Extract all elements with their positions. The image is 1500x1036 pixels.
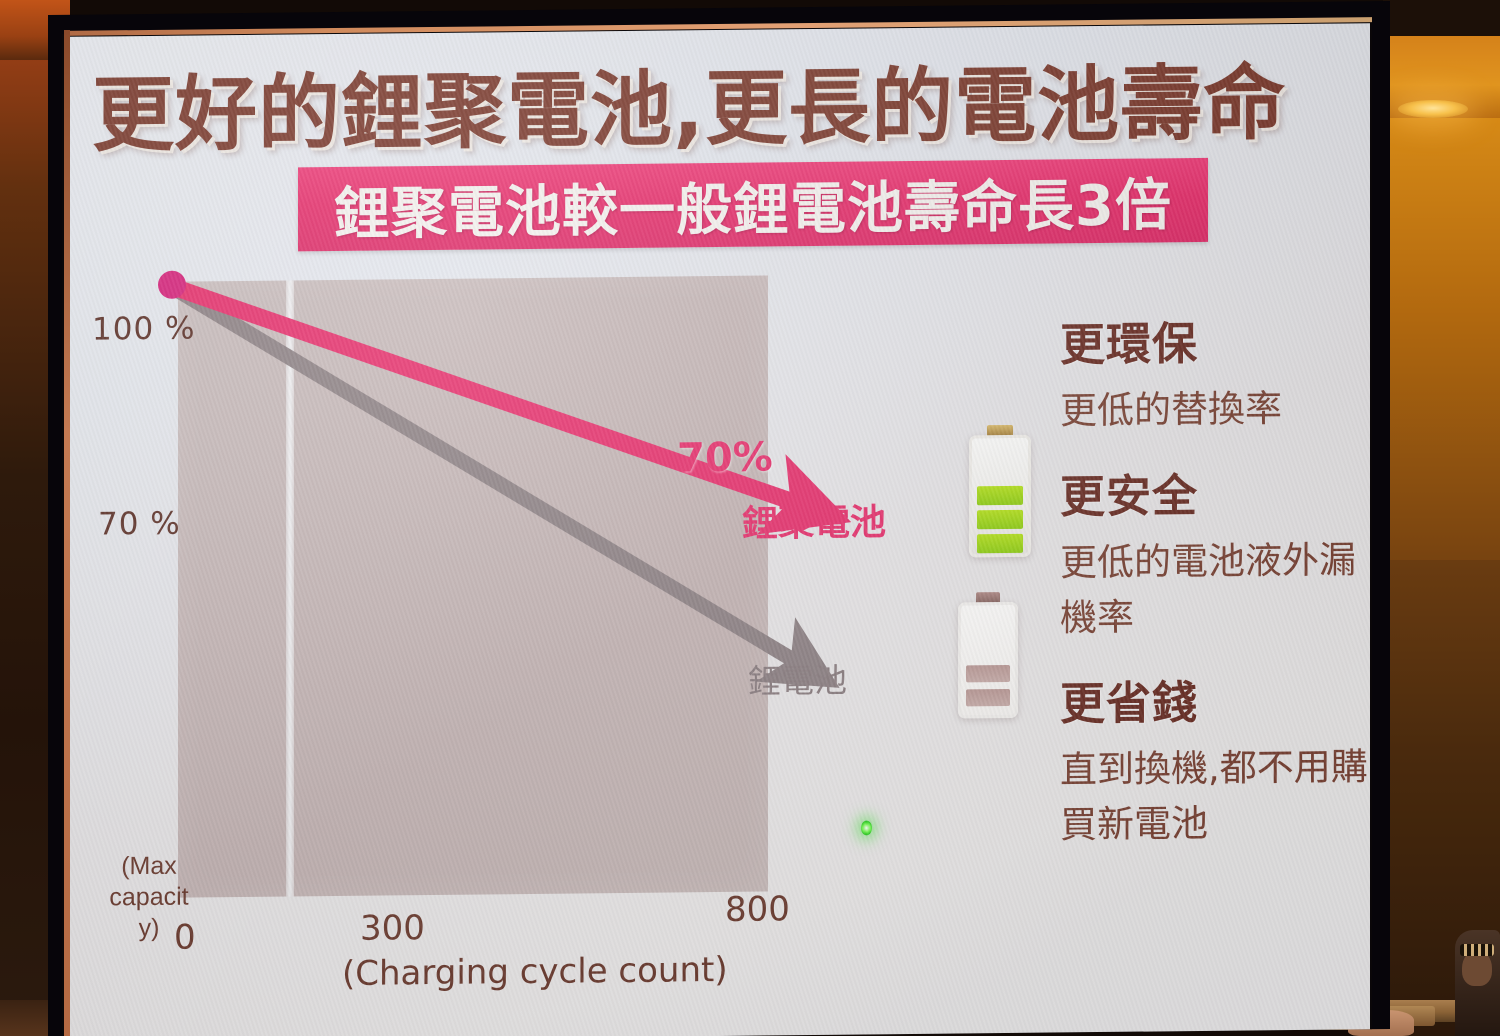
benefit-heading: 更安全 <box>1060 457 1370 525</box>
benefit-line: 更低的電池液外漏 <box>1060 532 1370 590</box>
glasses-icon <box>1460 944 1494 956</box>
highlight-banner-text: 鋰聚電池較一般鋰電池壽命長3倍 <box>334 160 1172 250</box>
benefit-line: 買新電池 <box>1060 794 1370 852</box>
battery-cell <box>977 534 1023 553</box>
annotation-70-percent: 70% <box>677 434 773 481</box>
battery-cell <box>977 486 1023 505</box>
benefit-item: 更安全 更低的電池液外漏 機率 <box>1060 457 1370 645</box>
benefit-heading: 更省錢 <box>1060 664 1370 732</box>
presentation-room-photo: 更好的鋰聚電池,更長的電池壽命 鋰聚電池較一般鋰電池壽命長3倍 100 % 70… <box>0 0 1500 1036</box>
highlight-banner: 鋰聚電池較一般鋰電池壽命長3倍 <box>298 158 1208 252</box>
battery-cap <box>976 592 1000 602</box>
battery-lifespan-chart: 100 % 70 % (Max capacit y) 0 300 800 (Ch… <box>70 248 900 997</box>
battery-body <box>958 602 1018 719</box>
chart-series-svg <box>70 248 900 997</box>
benefits-list: 更環保 更低的替換率 更安全 更低的電池液外漏 機率 更省錢 直到換機,都不用購… <box>1060 305 1370 874</box>
right-wall-ceiling-shadow <box>1383 0 1500 38</box>
ceiling-light-icon <box>1398 100 1468 118</box>
benefit-line: 更低的替換率 <box>1060 380 1370 438</box>
series-label-li: 鋰電池 <box>748 654 847 703</box>
slide-surface: 更好的鋰聚電池,更長的電池壽命 鋰聚電池較一般鋰電池壽命長3倍 100 % 70… <box>70 23 1370 1036</box>
benefit-heading: 更環保 <box>1060 305 1370 373</box>
benefit-item: 更省錢 直到換機,都不用購 買新電池 <box>1060 664 1370 852</box>
battery-cell <box>977 510 1023 529</box>
battery-cell <box>966 689 1010 706</box>
battery-body <box>969 435 1031 558</box>
benefit-line: 直到換機,都不用購 <box>1060 739 1370 797</box>
battery-full-green-icon <box>969 425 1031 562</box>
page-title: 更好的鋰聚電池,更長的電池壽命 <box>92 36 1282 167</box>
benefit-item: 更環保 更低的替換率 <box>1060 305 1370 438</box>
series-label-lipoly: 鋰聚電池 <box>742 493 886 547</box>
benefit-line: 機率 <box>1060 587 1370 645</box>
battery-low-gray-icon <box>958 592 1018 721</box>
laser-pointer-dot <box>861 820 872 835</box>
battery-cell <box>966 665 1010 682</box>
